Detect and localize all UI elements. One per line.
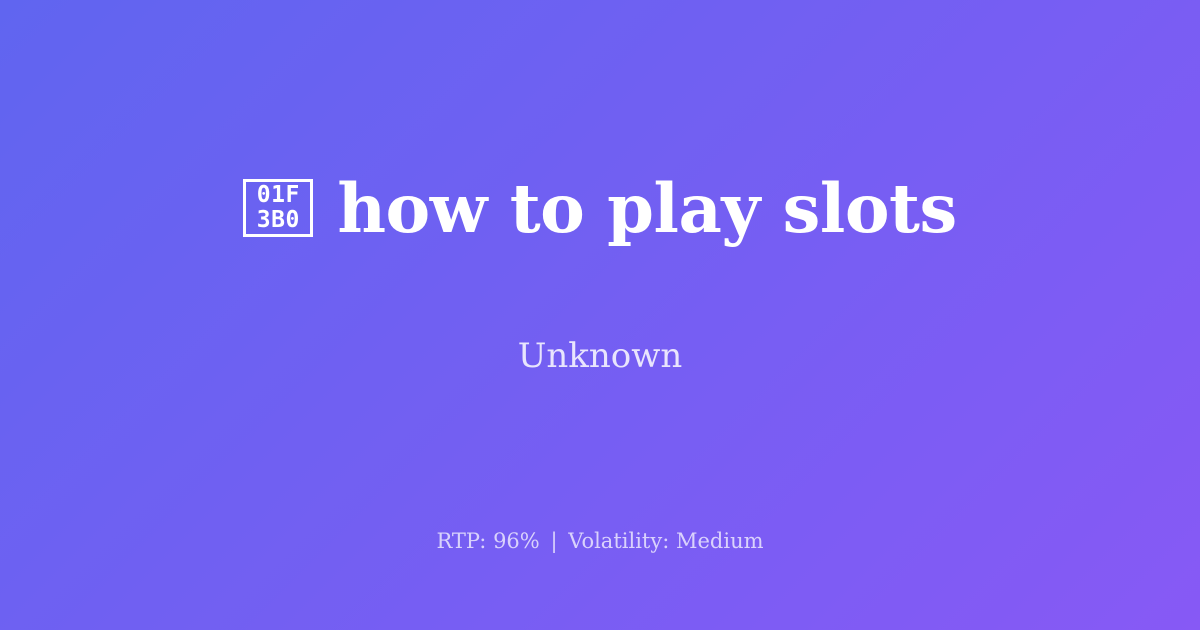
rtp-value: 96% [493, 529, 540, 553]
card-center-block: 01F 3B0 how to play slots Unknown [0, 0, 1200, 505]
rtp-label: RTP: [436, 529, 486, 553]
slot-machine-icon: 01F 3B0 [243, 179, 313, 237]
tofu-codepoint-bottom: 3B0 [257, 208, 300, 233]
tofu-codepoint-top: 01F [257, 183, 300, 208]
volatility-value: Medium [676, 529, 764, 553]
social-preview-card: 01F 3B0 how to play slots Unknown RTP: 9… [0, 0, 1200, 630]
game-stats-footer: RTP: 96% | Volatility: Medium [0, 528, 1200, 554]
volatility-label: Volatility: [568, 529, 669, 553]
provider-subtitle: Unknown [518, 336, 683, 377]
page-title: how to play slots [337, 173, 956, 244]
title-row: 01F 3B0 how to play slots [243, 128, 956, 289]
stats-separator: | [546, 529, 561, 553]
